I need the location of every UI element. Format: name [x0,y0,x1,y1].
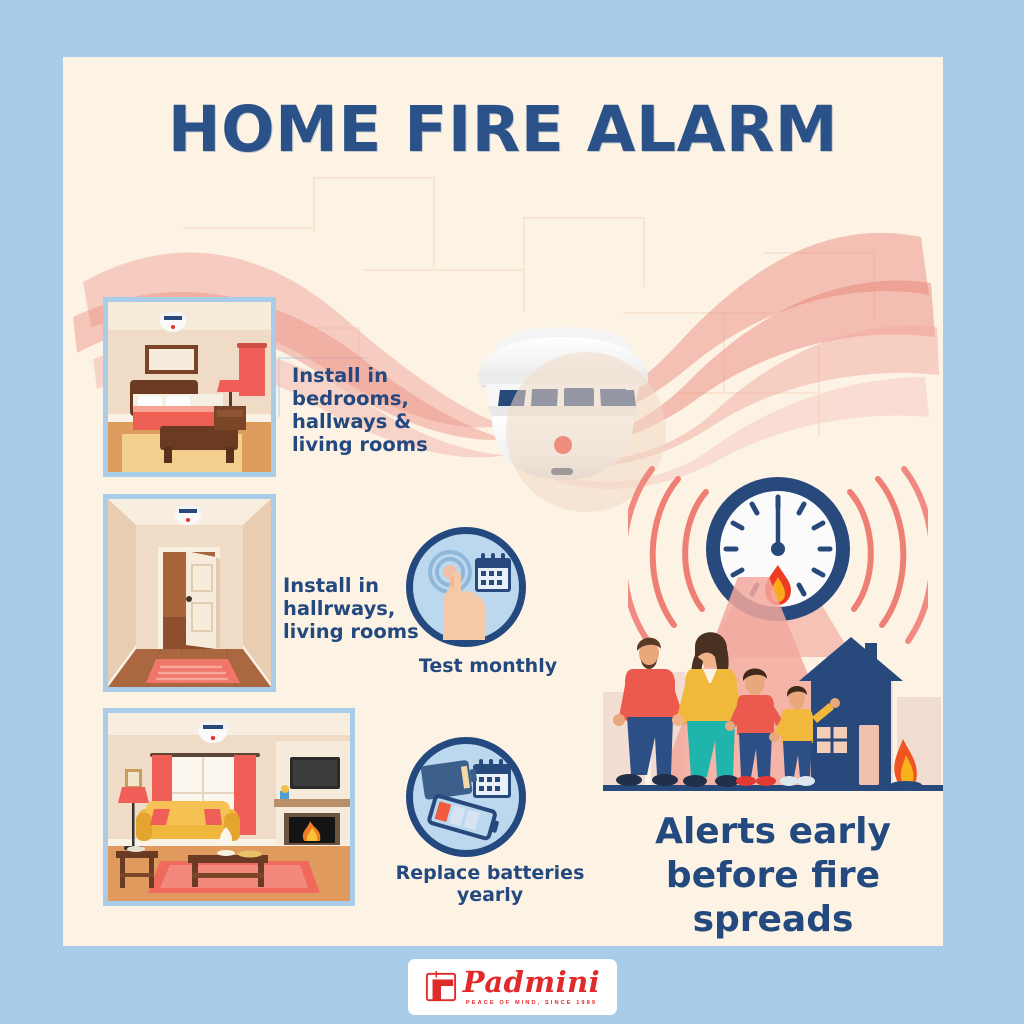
page-title: HOME FIRE ALARM [63,93,943,166]
tip-caption-bedrooms: Install in bedrooms, hallways & living r… [292,364,462,456]
hand-press-calendar-icon [406,527,526,647]
poster-root: HOME FIRE ALARM [0,0,1024,1024]
battery-calendar-icon [406,737,526,857]
icon-caption-battery: Replace batteries yearly [385,862,595,907]
alert-headline: Alerts early before fire spreads [603,810,943,942]
brand-tagline: PEACE OF MIND, SINCE 1989 [466,1000,597,1006]
family-escaping-burning-house-icon [603,577,943,807]
brand-name: Padmini [463,968,600,997]
brand-logo: Padmini PEACE OF MIND, SINCE 1989 [408,959,617,1015]
hallway-illustration [103,494,276,692]
icon-caption-test: Test monthly [393,655,583,677]
padmini-p-mark-icon [425,971,457,1003]
bedroom-illustration [103,297,276,477]
poster-card: HOME FIRE ALARM [63,57,943,946]
living-room-illustration [103,708,355,906]
